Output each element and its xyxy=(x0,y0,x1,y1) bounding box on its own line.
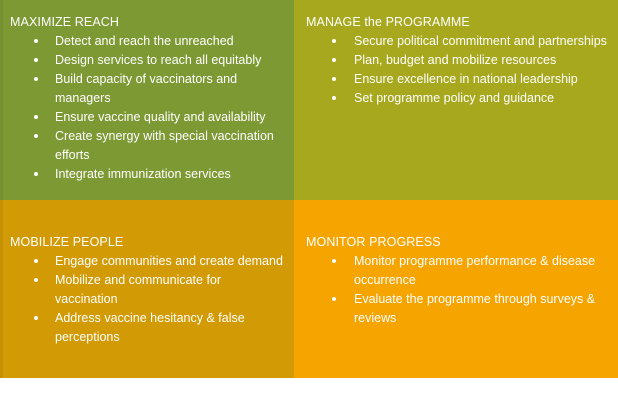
bullet-dot-icon xyxy=(332,259,336,263)
list-item-label: Integrate immunization services xyxy=(55,165,284,184)
bullet-dot-icon xyxy=(332,96,336,100)
quadrant-content: MOBILIZE PEOPLE Engage communities and c… xyxy=(0,200,294,378)
list-item: Plan, budget and mobilize resources xyxy=(306,51,608,70)
quadrant-title-maximize-reach: MAXIMIZE REACH xyxy=(10,14,284,30)
list-item-label: Secure political commitment and partners… xyxy=(354,32,608,51)
list-item-label: Detect and reach the unreached xyxy=(55,32,284,51)
list-item-label: Create synergy with special vaccination … xyxy=(55,127,284,165)
list-item: Evaluate the programme through surveys &… xyxy=(306,290,608,328)
list-item-label: Evaluate the programme through surveys &… xyxy=(354,290,608,328)
bullet-dot-icon xyxy=(34,39,38,43)
list-item: Design services to reach all equitably xyxy=(10,51,284,70)
list-item: Create synergy with special vaccination … xyxy=(10,127,284,165)
list-item-label: Engage communities and create demand xyxy=(55,252,284,271)
quadrant-title-mobilize-people: MOBILIZE PEOPLE xyxy=(10,234,284,250)
list-item-label: Build capacity of vaccinators and manage… xyxy=(55,70,284,108)
list-item-label: Design services to reach all equitably xyxy=(55,51,284,70)
list-item: Ensure excellence in national leadership xyxy=(306,70,608,89)
list-item-label: Plan, budget and mobilize resources xyxy=(354,51,608,70)
bottom-margin xyxy=(0,378,618,400)
bullet-dot-icon xyxy=(34,259,38,263)
quadrant-manage-the-programme: MANAGE the PROGRAMME Secure political co… xyxy=(294,0,618,200)
bullet-dot-icon xyxy=(34,278,38,282)
bullet-dot-icon xyxy=(332,297,336,301)
bullet-list-manage-the-programme: Secure political commitment and partners… xyxy=(306,32,608,108)
list-item: Set programme policy and guidance xyxy=(306,89,608,108)
bullet-dot-icon xyxy=(34,134,38,138)
list-item: Detect and reach the unreached xyxy=(10,32,284,51)
list-item-label: Monitor programme performance & disease … xyxy=(354,252,608,290)
list-item: Integrate immunization services xyxy=(10,165,284,184)
bullet-list-mobilize-people: Engage communities and create demand Mob… xyxy=(10,252,284,347)
list-item: Monitor programme performance & disease … xyxy=(306,252,608,290)
bullet-dot-icon xyxy=(34,316,38,320)
quadrant-title-monitor-progress: MONITOR PROGRESS xyxy=(306,234,608,250)
bullet-dot-icon xyxy=(34,115,38,119)
list-item: Address vaccine hesitancy & false percep… xyxy=(10,309,284,347)
bullet-dot-icon xyxy=(332,58,336,62)
list-item: Mobilize and communicate for vaccination xyxy=(10,271,284,309)
list-item: Build capacity of vaccinators and manage… xyxy=(10,70,284,108)
quadrant-content: MAXIMIZE REACH Detect and reach the unre… xyxy=(0,0,294,200)
list-item-label: Ensure vaccine quality and availability xyxy=(55,108,284,127)
list-item: Ensure vaccine quality and availability xyxy=(10,108,284,127)
quadrant-title-manage-the-programme: MANAGE the PROGRAMME xyxy=(306,14,608,30)
bullet-dot-icon xyxy=(34,77,38,81)
list-item-label: Mobilize and communicate for vaccination xyxy=(55,271,284,309)
quadrant-mobilize-people: MOBILIZE PEOPLE Engage communities and c… xyxy=(0,200,294,378)
list-item: Engage communities and create demand xyxy=(10,252,284,271)
list-item-label: Set programme policy and guidance xyxy=(354,89,608,108)
bullet-list-monitor-progress: Monitor programme performance & disease … xyxy=(306,252,608,328)
bullet-dot-icon xyxy=(34,172,38,176)
bullet-dot-icon xyxy=(332,39,336,43)
list-item-label: Ensure excellence in national leadership xyxy=(354,70,608,89)
list-item-label: Address vaccine hesitancy & false percep… xyxy=(55,309,284,347)
bullet-dot-icon xyxy=(34,58,38,62)
quadrant-content: MANAGE the PROGRAMME Secure political co… xyxy=(294,0,618,200)
list-item: Secure political commitment and partners… xyxy=(306,32,608,51)
quadrant-content: MONITOR PROGRESS Monitor programme perfo… xyxy=(294,200,618,378)
bullet-list-maximize-reach: Detect and reach the unreached Design se… xyxy=(10,32,284,184)
quadrant-maximize-reach: MAXIMIZE REACH Detect and reach the unre… xyxy=(0,0,294,200)
bullet-dot-icon xyxy=(332,77,336,81)
quadrant-grid: MAXIMIZE REACH Detect and reach the unre… xyxy=(0,0,618,378)
quadrant-monitor-progress: MONITOR PROGRESS Monitor programme perfo… xyxy=(294,200,618,378)
